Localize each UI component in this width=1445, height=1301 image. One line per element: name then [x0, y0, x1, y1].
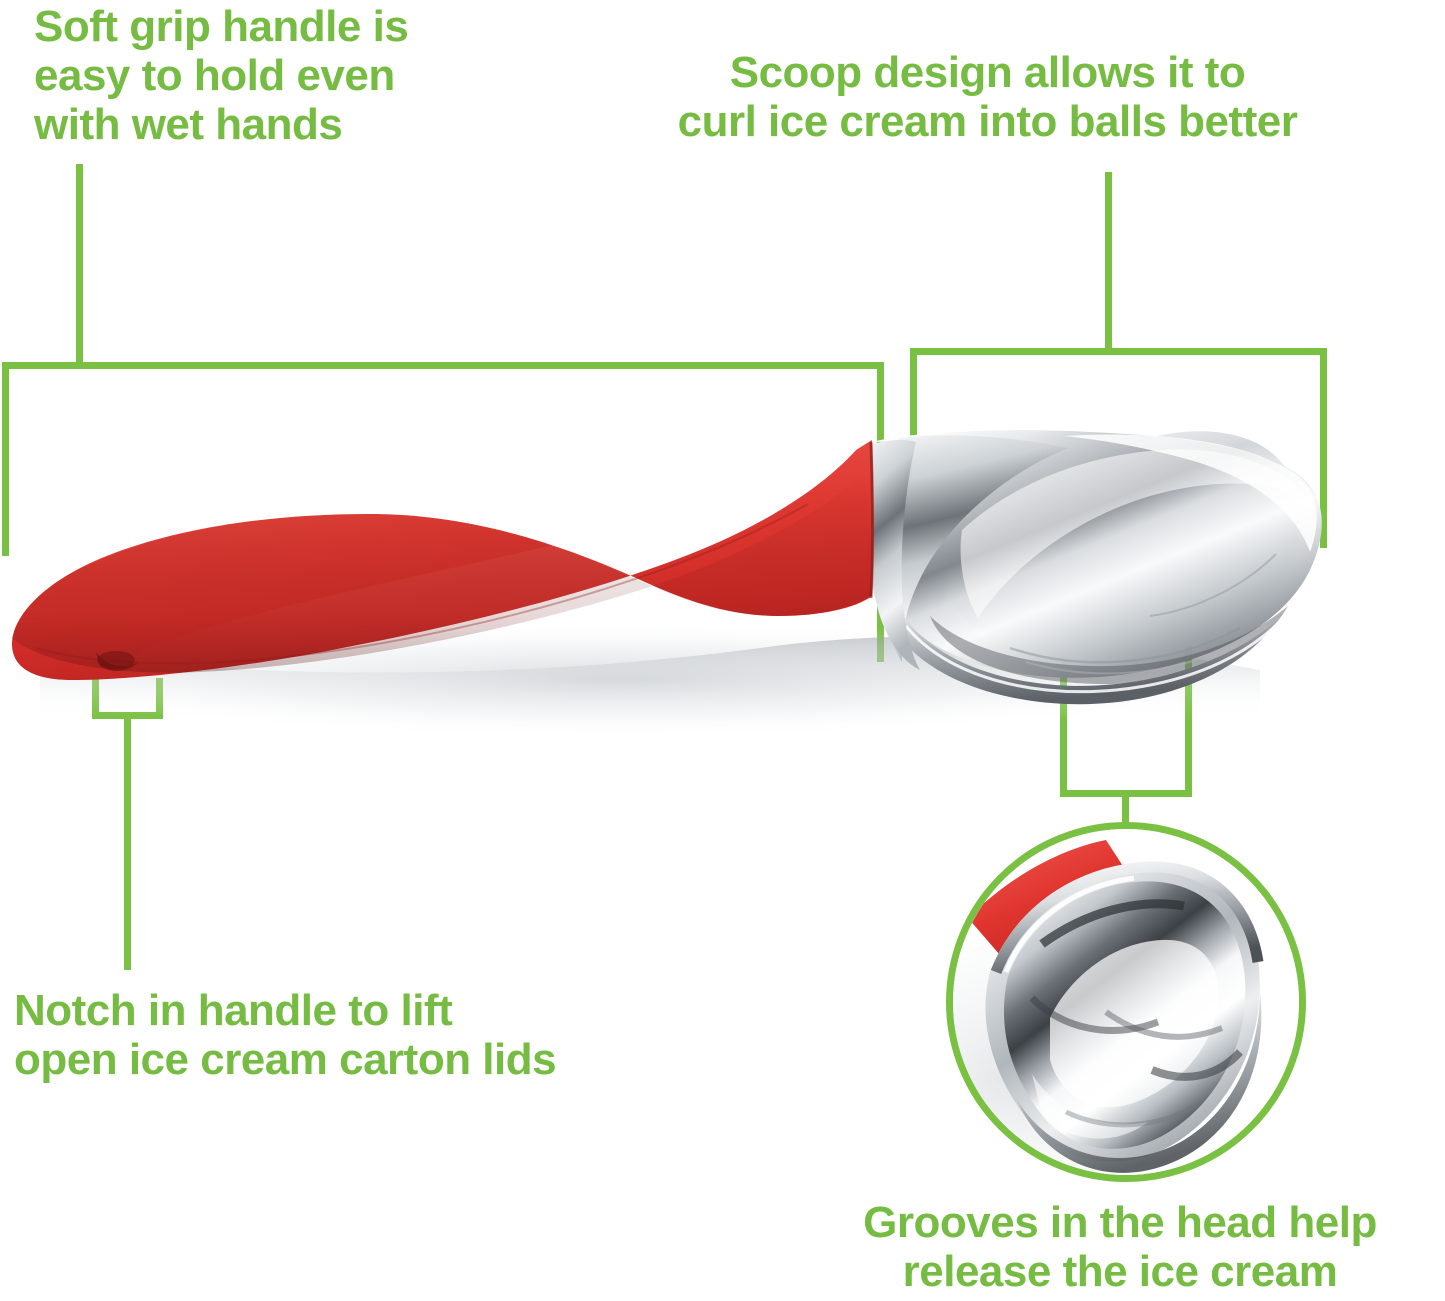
handle-notch-shadow — [97, 651, 135, 669]
leader-stem-scoop — [1105, 172, 1112, 354]
infographic-canvas: Soft grip handle is easy to hold even wi… — [0, 0, 1445, 1301]
callout-text-grooves: Grooves in the head help release the ice… — [800, 1198, 1440, 1296]
handle-chrome-joint — [871, 442, 873, 598]
leader-stem-notch — [124, 712, 131, 970]
product-illustration — [0, 380, 1445, 740]
leader-bar-scoop — [910, 348, 1327, 355]
magnified-scoop-bowl-graphic — [946, 822, 1306, 1182]
callout-text-scoop-design: Scoop design allows it to curl ice cream… — [575, 48, 1400, 146]
callout-text-soft-grip: Soft grip handle is easy to hold even wi… — [34, 2, 504, 149]
callout-text-notch: Notch in handle to lift open ice cream c… — [14, 986, 734, 1084]
magnified-inset-circle — [946, 822, 1306, 1182]
leader-bar-handle — [2, 362, 884, 369]
leader-stem-handle — [76, 164, 83, 366]
